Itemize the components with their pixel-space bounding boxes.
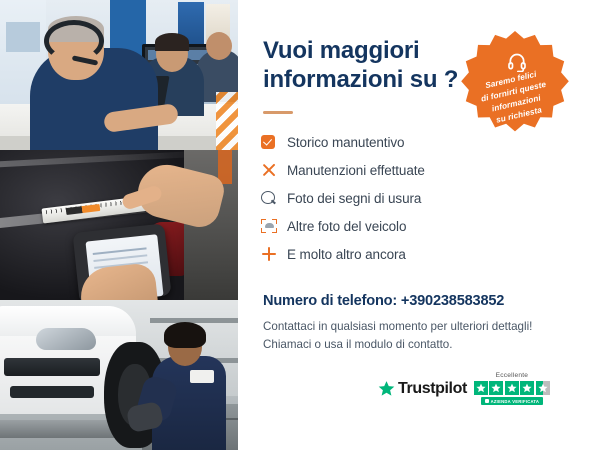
trustpilot-widget[interactable]: Trustpilot Eccellente AZIENDA VERIFICATA	[378, 372, 583, 405]
verified-check-icon	[485, 399, 489, 403]
feature-item-molto-altro-ancora: E molto altro ancora	[261, 240, 491, 268]
orange-background-object	[218, 150, 232, 184]
trustpilot-brand-name: Trustpilot	[398, 380, 467, 398]
title-divider	[263, 111, 293, 114]
wall-shelf-upper	[150, 318, 238, 323]
phone-number[interactable]: Numero di telefono: +390238583852	[263, 293, 504, 309]
headset-icon	[507, 52, 527, 72]
wrench-cross-icon	[261, 162, 287, 178]
star-filled	[489, 381, 503, 395]
content-panel: Vuoi maggiori informazioni su ? Saremo f…	[238, 0, 600, 450]
car-grille	[4, 358, 100, 376]
trustpilot-rating: Eccellente AZIENDA VERIFICATA	[474, 372, 550, 405]
page-title: Vuoi maggiori informazioni su ?	[263, 36, 478, 95]
contact-subtext-line-2: Chiamaci o usa il modulo di contatto.	[263, 336, 553, 354]
agent-3-head	[206, 32, 232, 60]
star-filled	[505, 381, 519, 395]
promo-card: Vuoi maggiori informazioni su ? Saremo f…	[0, 0, 600, 450]
checkbox-checked-icon	[261, 135, 287, 149]
photo-column	[0, 0, 238, 450]
car-lower-grille	[10, 386, 94, 398]
contact-subtext: Contattaci in qualsiasi momento per ulte…	[263, 318, 553, 355]
page-title-line-2: informazioni su ?	[263, 65, 478, 94]
feature-label: Manutenzioni effettuate	[287, 163, 425, 178]
agent-2-hair	[155, 33, 189, 51]
feature-label: Storico manutentivo	[287, 135, 404, 150]
page-title-line-1: Vuoi maggiori	[263, 36, 478, 65]
feature-item-altre-foto-veicolo: Altre foto del veicolo	[261, 212, 491, 240]
feature-label: E molto altro ancora	[287, 247, 406, 262]
star-filled	[474, 381, 488, 395]
trustpilot-stars	[474, 381, 550, 395]
trustpilot-star-icon	[378, 380, 395, 397]
contact-subtext-line-1: Contattaci in qualsiasi momento per ulte…	[263, 318, 553, 336]
feature-list: Storico manutentivo Manutenzioni effettu…	[261, 128, 491, 268]
star-filled	[520, 381, 534, 395]
trustpilot-logo: Trustpilot	[378, 380, 467, 398]
feature-label: Altre foto del veicolo	[287, 219, 406, 234]
feature-label: Foto dei segni di usura	[287, 191, 421, 206]
photo-call-center-agents-with-headsets	[0, 0, 238, 150]
feature-item-storico-manutentivo: Storico manutentivo	[261, 128, 491, 156]
car-scan-icon	[261, 219, 287, 233]
verified-company-badge: AZIENDA VERIFICATA	[481, 397, 544, 405]
orange-striped-barrier	[216, 92, 238, 150]
photo-mechanic-inspecting-car-wheel-on-lift	[0, 300, 238, 450]
uniform-badge	[190, 370, 214, 383]
feature-item-foto-segni-usura: Foto dei segni di usura	[261, 184, 491, 212]
star-half	[536, 381, 550, 395]
verified-label: AZIENDA VERIFICATA	[491, 399, 540, 404]
magnifier-icon	[261, 190, 287, 206]
car-headlight	[36, 328, 96, 350]
plus-icon	[261, 246, 287, 262]
photo-vehicle-damage-inspection-with-tablet	[0, 150, 238, 300]
mechanic-hair	[164, 322, 206, 348]
trustpilot-rating-label: Eccellente	[496, 372, 528, 379]
feature-item-manutenzioni-effettuate: Manutenzioni effettuate	[261, 156, 491, 184]
callout-badge: Saremo felici di fornirti queste informa…	[460, 28, 570, 138]
